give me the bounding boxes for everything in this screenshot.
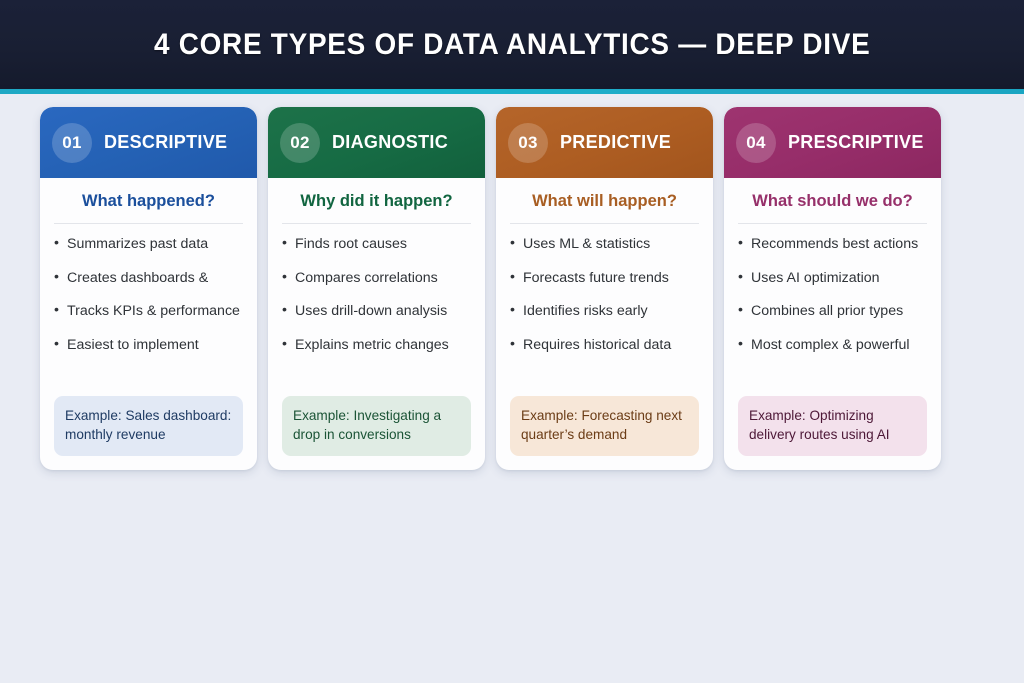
card-example-box: Example: Optimizing delivery routes usin… [738,396,927,456]
card-header-diagnostic: 02 DIAGNOSTIC [268,107,485,178]
card-body: Why did it happen? Finds root causes Com… [268,178,485,470]
list-item: Uses drill-down analysis [282,303,471,321]
analytics-card-row: 01 DESCRIPTIVE What happened? Summarizes… [40,107,984,470]
list-item: Combines all prior types [738,303,927,321]
list-item: Summarizes past data [54,236,243,254]
card-title: PRESCRIPTIVE [788,133,924,153]
card-title: PREDICTIVE [560,133,671,153]
list-item: Most complex & powerful [738,337,927,355]
header-accent-bar [0,89,1024,94]
card-body: What should we do? Recommends best actio… [724,178,941,470]
card-bullet-list: Summarizes past data Creates dashboards … [54,236,243,355]
list-item: Tracks KPIs & performance [54,303,243,321]
card-question: What will happen? [510,192,699,223]
card-number-badge: 04 [736,123,776,163]
card-question: What happened? [54,192,243,223]
analytics-card-diagnostic[interactable]: 02 DIAGNOSTIC Why did it happen? Finds r… [268,107,485,470]
list-item: Explains metric changes [282,337,471,355]
card-bullet-list: Uses ML & statistics Forecasts future tr… [510,236,699,355]
analytics-card-predictive[interactable]: 03 PREDICTIVE What will happen? Uses ML … [496,107,713,470]
list-item: Uses ML & statistics [510,236,699,254]
card-title: DIAGNOSTIC [332,133,448,153]
list-item: Recommends best actions [738,236,927,254]
card-number-badge: 02 [280,123,320,163]
card-example-box: Example: Sales dashboard: monthly revenu… [54,396,243,456]
card-number-badge: 01 [52,123,92,163]
list-item: Requires historical data [510,337,699,355]
card-bullet-list: Recommends best actions Uses AI optimiza… [738,236,927,355]
card-divider [54,223,243,224]
card-body: What happened? Summarizes past data Crea… [40,178,257,470]
card-body: What will happen? Uses ML & statistics F… [496,178,713,470]
card-question: Why did it happen? [282,192,471,223]
card-title: DESCRIPTIVE [104,133,227,153]
card-header-prescriptive: 04 PRESCRIPTIVE [724,107,941,178]
analytics-card-descriptive[interactable]: 01 DESCRIPTIVE What happened? Summarizes… [40,107,257,470]
card-divider [510,223,699,224]
list-item: Easiest to implement [54,337,243,355]
list-item: Identifies risks early [510,303,699,321]
list-item: Compares correlations [282,270,471,288]
list-item: Forecasts future trends [510,270,699,288]
card-header-descriptive: 01 DESCRIPTIVE [40,107,257,178]
card-number-badge: 03 [508,123,548,163]
card-bullet-list: Finds root causes Compares correlations … [282,236,471,355]
list-item: Finds root causes [282,236,471,254]
page-header-banner: 4 CORE TYPES OF DATA ANALYTICS — DEEP DI… [0,0,1024,89]
list-item: Creates dashboards & [54,270,243,288]
analytics-card-prescriptive[interactable]: 04 PRESCRIPTIVE What should we do? Recom… [724,107,941,470]
card-divider [738,223,927,224]
page-title: 4 CORE TYPES OF DATA ANALYTICS — DEEP DI… [154,28,870,62]
card-divider [282,223,471,224]
card-header-predictive: 03 PREDICTIVE [496,107,713,178]
card-example-box: Example: Investigating a drop in convers… [282,396,471,456]
list-item: Uses AI optimization [738,270,927,288]
card-example-box: Example: Forecasting next quarter’s dema… [510,396,699,456]
card-question: What should we do? [738,192,927,223]
